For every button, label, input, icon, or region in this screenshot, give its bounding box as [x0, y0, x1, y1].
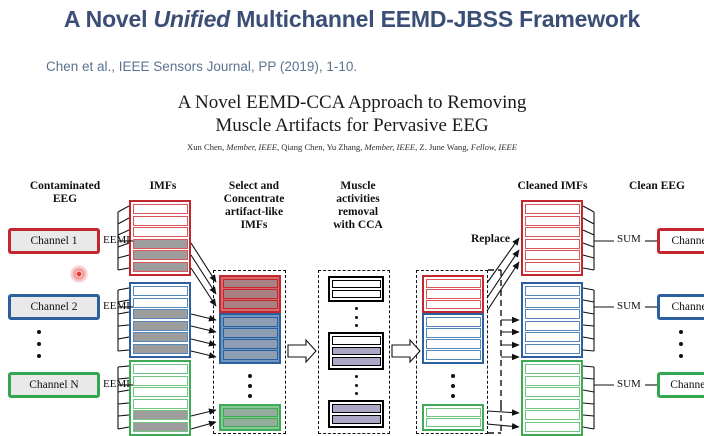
heading-select-concentrate: Select andConcentrateartifact-likeIMFs [206, 180, 302, 232]
imf-stack-green [129, 360, 191, 436]
input-channel-ellipsis [36, 330, 42, 358]
author-4-grade: Fellow, IEEE [471, 142, 517, 152]
sum-label-2: SUM [617, 300, 641, 312]
input-channel-1-box[interactable]: Channel 1 [8, 228, 100, 254]
cca-ellipsis-2 [353, 375, 359, 395]
author-1: Xun Chen, [187, 142, 226, 152]
cursor-click-marker [70, 265, 88, 283]
input-channel-2-label: Channel 2 [31, 301, 78, 313]
citation-line: Chen et al., IEEE Sensors Journal, PP (2… [46, 59, 357, 74]
cleaned-selected-ellipsis [450, 374, 456, 398]
page-title-part1: A Novel [64, 6, 154, 32]
output-channel-2-box[interactable]: Channel 2 [657, 294, 704, 320]
cleaned-selected-stack-blue [422, 313, 484, 364]
heading-clean-eeg: Clean EEG [615, 180, 699, 193]
cca-group-bottom [328, 400, 384, 428]
cca-ellipsis-1 [353, 307, 359, 327]
selected-stack-green [219, 404, 281, 431]
input-channel-n-box[interactable]: Channel N [8, 372, 100, 398]
input-channel-n-label: Channel N [29, 379, 79, 391]
input-channel-2-box[interactable]: Channel 2 [8, 294, 100, 320]
heading-cleaned-imfs: Cleaned IMFs [495, 180, 610, 193]
output-channel-ellipsis [678, 330, 684, 358]
author-4: , Z. June Wang, [415, 142, 471, 152]
output-channel-1-label: Channel 1 [672, 235, 704, 247]
paper-title: A Novel EEMD-CCA Approach to Removing Mu… [0, 91, 704, 137]
imf-stack-blue [129, 282, 191, 358]
imf-stack-red [129, 200, 191, 276]
paper-title-line1: A Novel EEMD-CCA Approach to Removing [178, 92, 527, 113]
selected-stack-red [219, 275, 281, 313]
heading-contaminated-eeg: ContaminatedEEG [6, 180, 124, 206]
author-2-3: , Qiang Chen, Yu Zhang, [277, 142, 365, 152]
paper-title-line2: Muscle Artifacts for Pervasive EEG [0, 114, 704, 137]
author-3-grade: Member, IEEE [365, 142, 416, 152]
output-channel-1-box[interactable]: Channel 1 [657, 228, 704, 254]
output-channel-2-label: Channel 2 [672, 301, 704, 313]
eemd-cca-pipeline-figure: ContaminatedEEG IMFs Select andConcentra… [0, 170, 704, 434]
paper-authors: Xun Chen, Member, IEEE, Qiang Chen, Yu Z… [0, 142, 704, 152]
input-channel-1-label: Channel 1 [31, 235, 78, 247]
cleaned-selected-stack-red [422, 275, 484, 313]
cca-group-top [328, 276, 384, 302]
sum-label-1: SUM [617, 233, 641, 245]
heading-imfs: IMFs [124, 180, 202, 193]
output-channel-n-box[interactable]: Channel N [657, 372, 704, 398]
cca-group-middle [328, 332, 384, 370]
selected-stack-ellipsis [247, 374, 253, 398]
cleaned-imf-stack-red [521, 200, 583, 276]
cleaned-imf-stack-green [521, 360, 583, 436]
author-1-grade: Member, IEEE [226, 142, 277, 152]
output-channel-n-label: Channel N [670, 379, 704, 391]
page-title-part2: Multichannel EEMD-JBSS Framework [230, 6, 640, 32]
cleaned-selected-stack-green [422, 404, 484, 431]
heading-muscle-removal: Muscleactivitiesremovalwith CCA [316, 180, 400, 232]
page-title-emphasis: Unified [153, 6, 230, 32]
label-replace: Replace [471, 233, 510, 245]
page-title: A Novel Unified Multichannel EEMD-JBSS F… [0, 6, 704, 33]
cleaned-imf-stack-blue [521, 282, 583, 358]
sum-label-n: SUM [617, 378, 641, 390]
selected-stack-blue [219, 313, 281, 364]
